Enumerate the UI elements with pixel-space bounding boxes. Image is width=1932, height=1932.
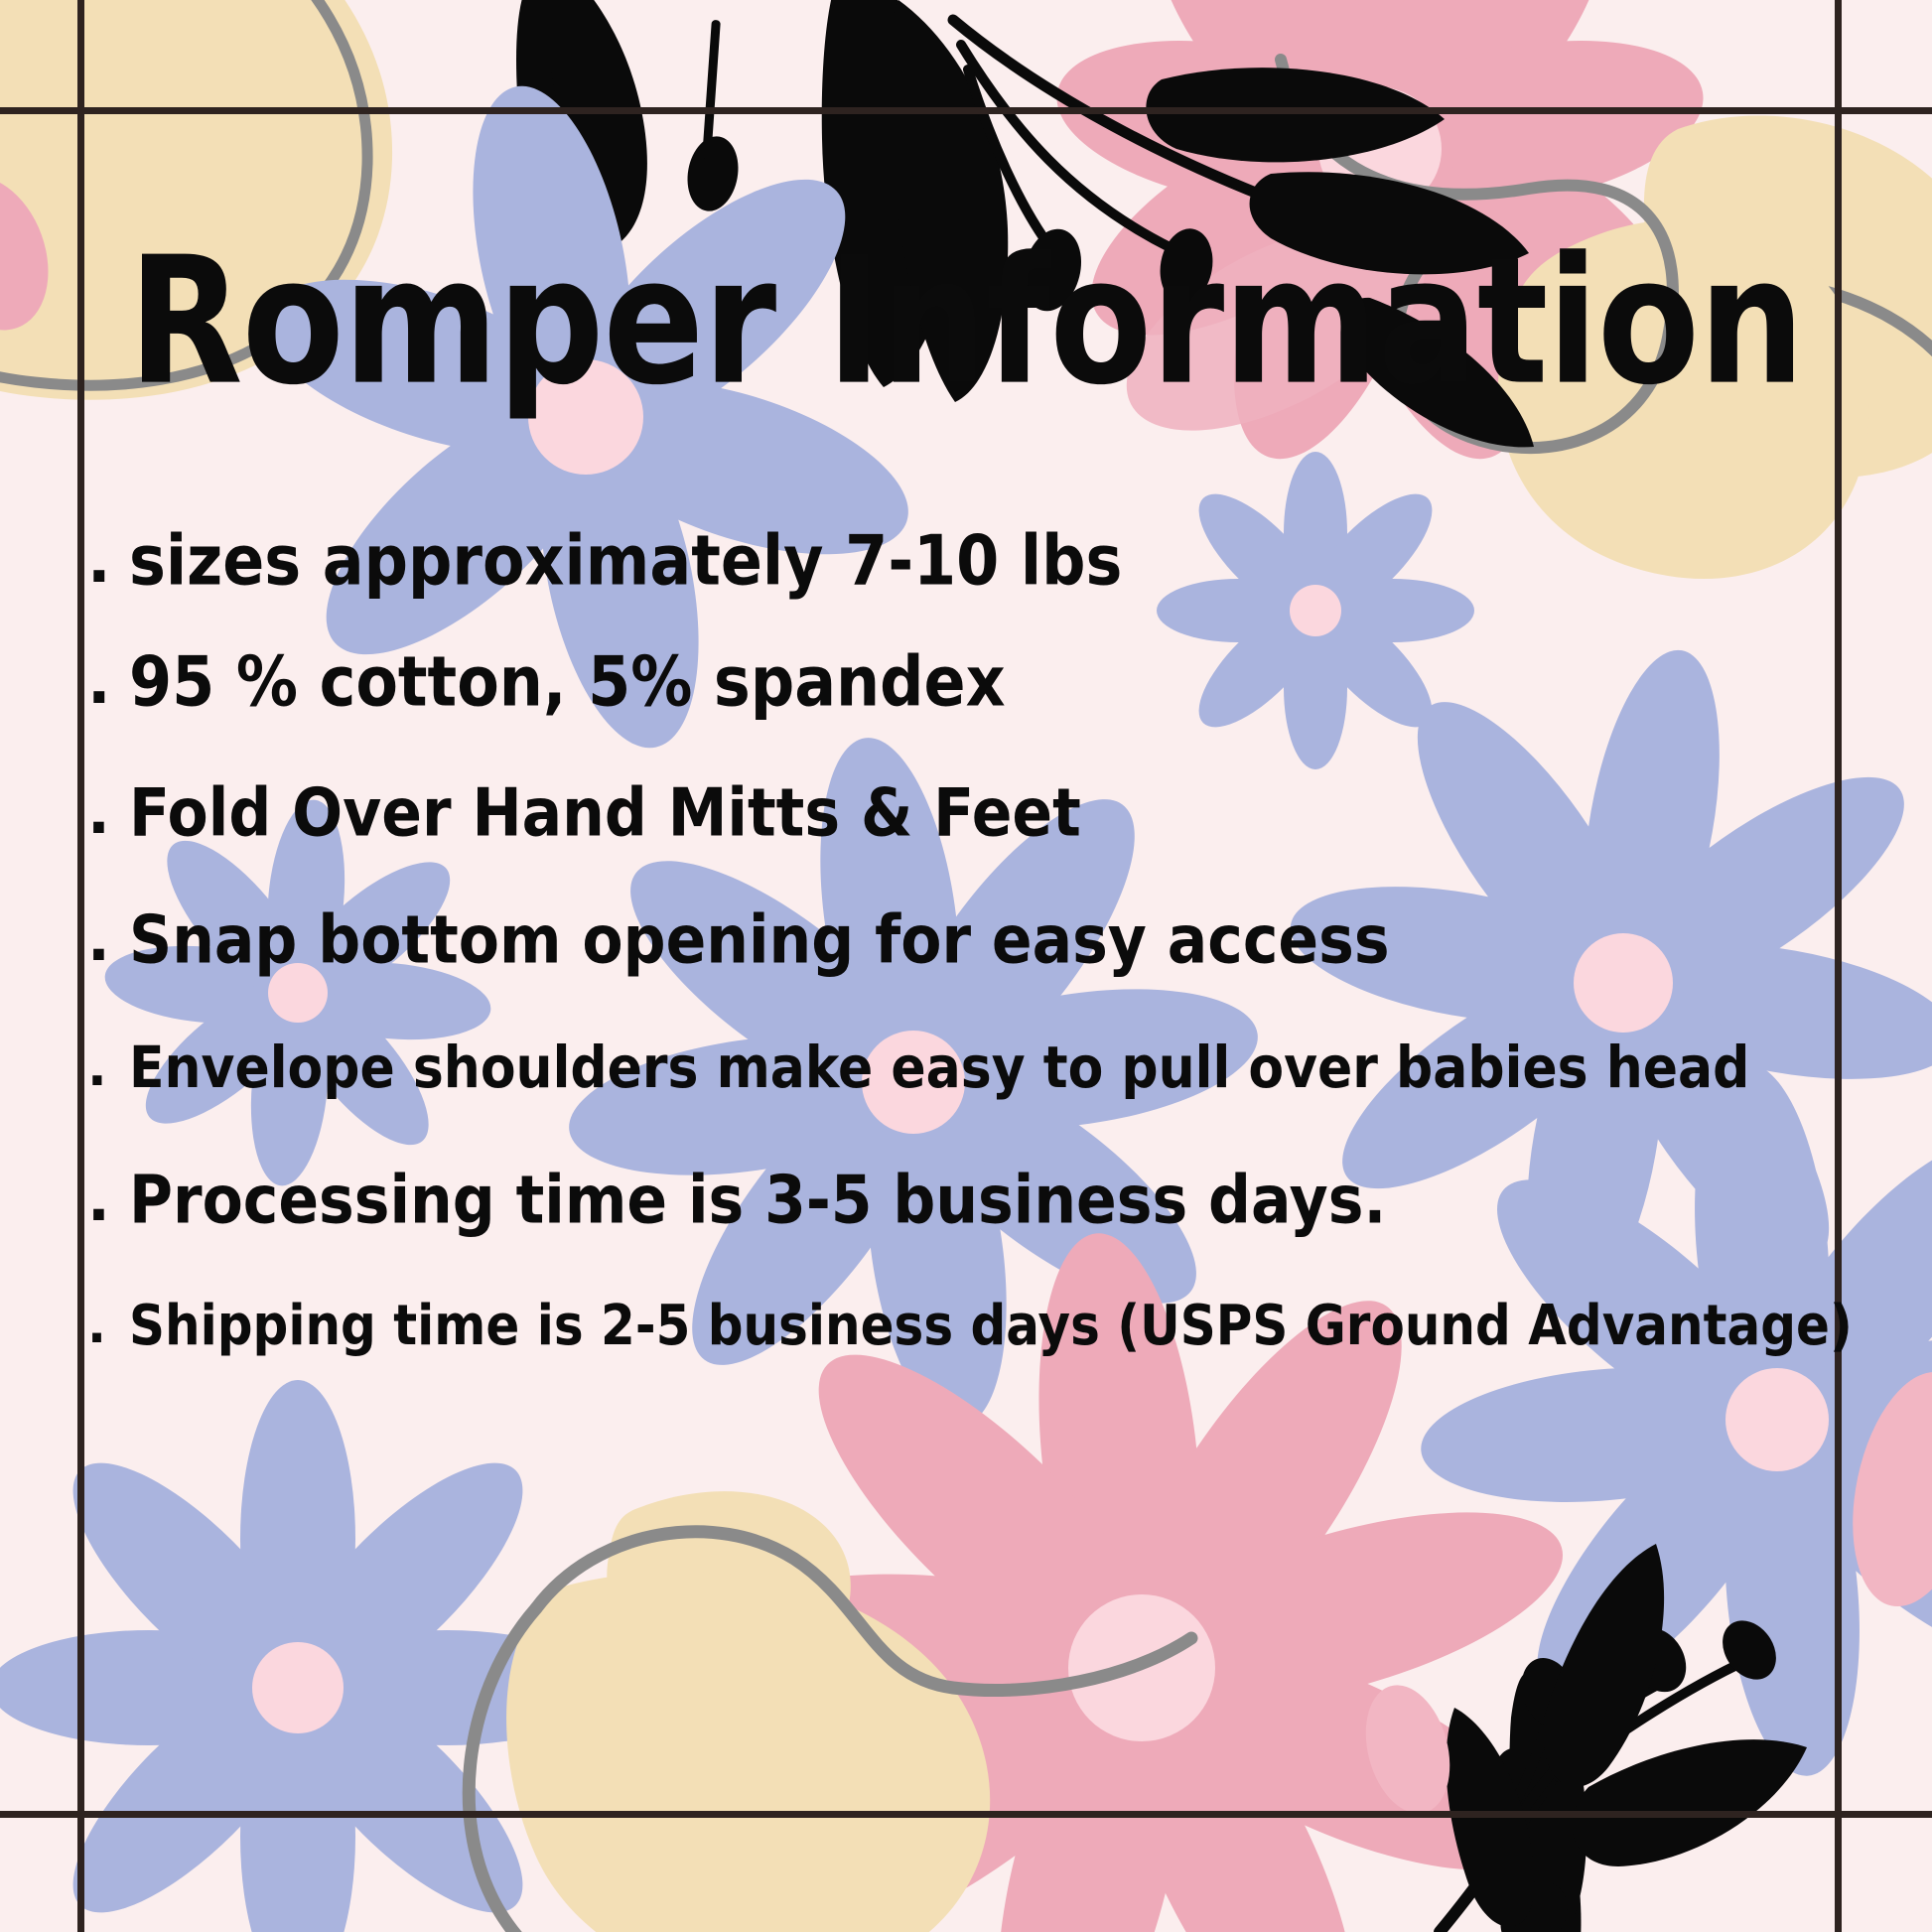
bullet-marker: .: [87, 778, 129, 848]
bullet-marker: .: [87, 1038, 129, 1098]
bullet-text: Fold Over Hand Mitts & Feet: [129, 774, 1884, 852]
bullet-marker: .: [87, 524, 129, 597]
list-item: . Fold Over Hand Mitts & Feet: [87, 778, 1884, 905]
page-title: Romper Information: [0, 234, 1932, 410]
bullet-text: Shipping time is 2-5 business days (USPS…: [129, 1294, 1884, 1358]
poster-content: Romper Information . sizes approximately…: [0, 0, 1932, 1932]
bullet-text: Snap bottom opening for easy access: [129, 901, 1884, 979]
bullet-marker: .: [87, 905, 129, 975]
list-item: . 95 % cotton, 5% spandex: [87, 645, 1884, 778]
list-item: . Snap bottom opening for easy access: [87, 905, 1884, 1038]
bullet-text: 95 % cotton, 5% spandex: [129, 641, 1884, 723]
bullet-marker: .: [87, 645, 129, 718]
bullet-marker: .: [87, 1297, 129, 1354]
bullet-text: Processing time is 3-5 business days.: [129, 1162, 1884, 1239]
list-item: . Processing time is 3-5 business days.: [87, 1166, 1884, 1297]
list-item: . sizes approximately 7-10 lbs: [87, 524, 1884, 645]
bullet-text: Envelope shoulders make easy to pull ove…: [129, 1035, 1884, 1101]
bullet-list: . sizes approximately 7-10 lbs . 95 % co…: [87, 524, 1884, 1416]
list-item: . Shipping time is 2-5 business days (US…: [87, 1297, 1884, 1416]
list-item: . Envelope shoulders make easy to pull o…: [87, 1038, 1884, 1166]
bullet-text: sizes approximately 7-10 lbs: [129, 520, 1884, 602]
poster-canvas: Romper Information . sizes approximately…: [0, 0, 1932, 1932]
bullet-marker: .: [87, 1166, 129, 1235]
